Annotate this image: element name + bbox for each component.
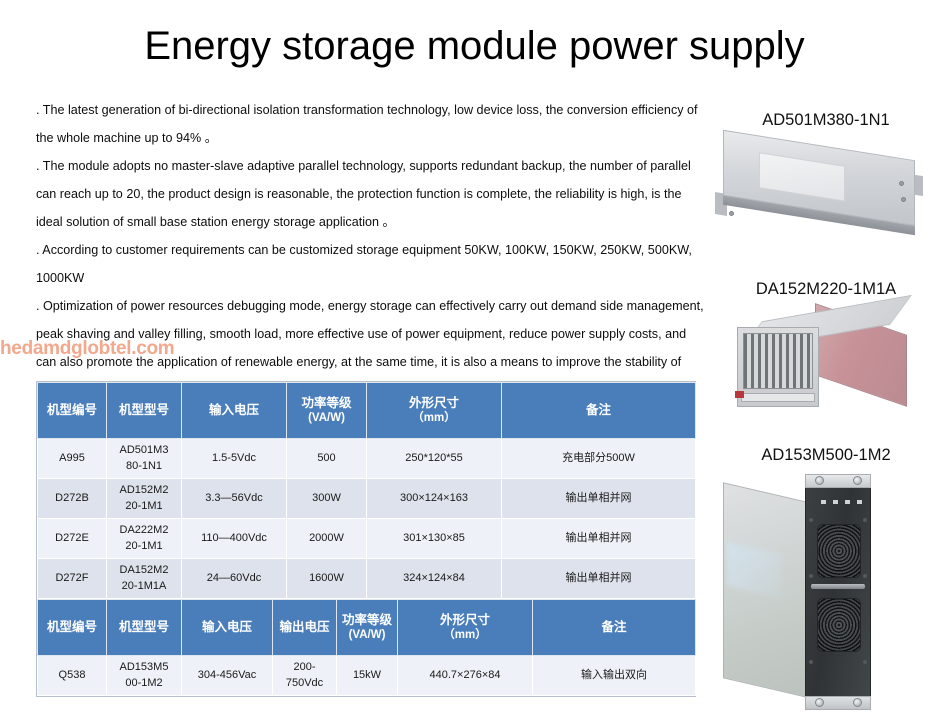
cell-dimensions: 301×130×85 xyxy=(367,519,502,559)
product-item-1: AD501M380-1N1 xyxy=(703,110,949,247)
module-front-panel xyxy=(805,478,871,706)
fan-grille-icon xyxy=(817,598,861,652)
cell-dimensions: 440.7×276×84 xyxy=(398,656,533,696)
product-label-2: DA152M220-1M1A xyxy=(703,279,949,300)
cell-model-no: D272E xyxy=(38,519,107,559)
table-row: D272F DA152M220-1M1A 24—60Vdc 1600W 324×… xyxy=(38,559,696,599)
description-paragraph-1: . The latest generation of bi-directiona… xyxy=(36,96,708,152)
table-row: D272E DA222M220-1M1 110—400Vdc 2000W 301… xyxy=(38,519,696,559)
fan-grille-icon xyxy=(817,524,861,578)
cell-power: 15kW xyxy=(337,656,398,696)
cell-input-voltage: 304-456Vac xyxy=(182,656,273,696)
cell-power: 2000W xyxy=(287,519,367,559)
product-item-3: AD153M500-1M2 xyxy=(703,445,949,720)
product-label-3: AD153M500-1M2 xyxy=(703,445,949,466)
col-header-model-type: 机型型号 xyxy=(107,383,182,439)
cell-power: 300W xyxy=(287,479,367,519)
table-header-row-section1: 机型编号 机型型号 输入电压 功率等级(VA/W) 外形尺寸（mm） 备注 xyxy=(38,383,696,439)
cell-model-no: D272B xyxy=(38,479,107,519)
table-row: A995 AD501M380-1N1 1.5-5Vdc 500 250*120*… xyxy=(38,439,696,479)
cell-dimensions: 324×124×84 xyxy=(367,559,502,599)
flat-rack-chassis-photo xyxy=(711,135,941,247)
rectifier-module-photo xyxy=(711,305,941,417)
table-row: D272B AD152M220-1M1 3.3—56Vdc 300W 300×1… xyxy=(38,479,696,519)
cell-input-voltage: 1.5-5Vdc xyxy=(182,439,287,479)
specification-table: 机型编号 机型型号 输入电压 功率等级(VA/W) 外形尺寸（mm） 备注 A9… xyxy=(36,381,696,697)
module-connector-slot xyxy=(741,393,815,402)
col-header-dimensions: 外形尺寸（mm） xyxy=(398,600,533,656)
col-header-model-no: 机型编号 xyxy=(38,600,107,656)
col-header-dimensions: 外形尺寸（mm） xyxy=(367,383,502,439)
cell-remark: 输出单相并网 xyxy=(502,559,696,599)
screw-icon xyxy=(729,211,734,216)
col-header-remark: 备注 xyxy=(502,383,696,439)
cell-power: 1600W xyxy=(287,559,367,599)
cell-dimensions: 300×124×163 xyxy=(367,479,502,519)
cell-remark: 输入输出双向 xyxy=(533,656,696,696)
cell-remark: 输出单相并网 xyxy=(502,479,696,519)
cell-power: 500 xyxy=(287,439,367,479)
cell-input-voltage: 24—60Vdc xyxy=(182,559,287,599)
col-header-input-voltage: 输入电压 xyxy=(182,383,287,439)
cell-model-type: DA222M220-1M1 xyxy=(107,519,182,559)
product-item-2: DA152M220-1M1A xyxy=(703,279,949,416)
cell-dimensions: 250*120*55 xyxy=(367,439,502,479)
col-header-model-type: 机型型号 xyxy=(107,600,182,656)
cell-model-type: DA152M220-1M1A xyxy=(107,559,182,599)
description-paragraph-2: . The module adopts no master-slave adap… xyxy=(36,152,708,236)
status-led-icon xyxy=(821,500,826,504)
tall-power-module-photo xyxy=(711,470,941,720)
cell-model-no: A995 xyxy=(38,439,107,479)
cell-model-no: D272F xyxy=(38,559,107,599)
col-header-power-level: 功率等级(VA/W) xyxy=(287,383,367,439)
col-header-remark: 备注 xyxy=(533,600,696,656)
status-led-icon xyxy=(857,500,862,504)
release-latch-icon xyxy=(735,391,744,398)
ventilation-grille-icon xyxy=(743,333,813,389)
cell-input-voltage: 3.3—56Vdc xyxy=(182,479,287,519)
status-led-icon xyxy=(845,500,850,504)
status-led-icon xyxy=(833,500,838,504)
cell-remark: 充电部分500W xyxy=(502,439,696,479)
col-header-output-voltage: 输出电压 xyxy=(273,600,337,656)
cell-model-type: AD152M220-1M1 xyxy=(107,479,182,519)
table-row: Q538 AD153M500-1M2 304-456Vac 200-750Vdc… xyxy=(38,656,696,696)
col-header-power-level: 功率等级(VA/W) xyxy=(337,600,398,656)
description-paragraph-3: . According to customer requirements can… xyxy=(36,236,708,292)
col-header-input-voltage: 输入电压 xyxy=(182,600,273,656)
table-header-row-section2: 机型编号 机型型号 输入电压 输出电压 功率等级(VA/W) 外形尺寸（mm） … xyxy=(38,600,696,656)
product-label-1: AD501M380-1N1 xyxy=(703,110,949,131)
cell-output-voltage: 200-750Vdc xyxy=(273,656,337,696)
product-gallery: AD501M380-1N1 DA152M220-1M1A AD153M500-1… xyxy=(703,110,949,726)
module-handle xyxy=(811,584,865,589)
cell-remark: 输出单相并网 xyxy=(502,519,696,559)
description-block: . The latest generation of bi-directiona… xyxy=(36,96,708,404)
cell-model-type: AD153M500-1M2 xyxy=(107,656,182,696)
col-header-model-no: 机型编号 xyxy=(38,383,107,439)
cell-model-type: AD501M380-1N1 xyxy=(107,439,182,479)
page-title: Energy storage module power supply xyxy=(0,24,949,68)
cell-model-no: Q538 xyxy=(38,656,107,696)
cell-input-voltage: 110—400Vdc xyxy=(182,519,287,559)
